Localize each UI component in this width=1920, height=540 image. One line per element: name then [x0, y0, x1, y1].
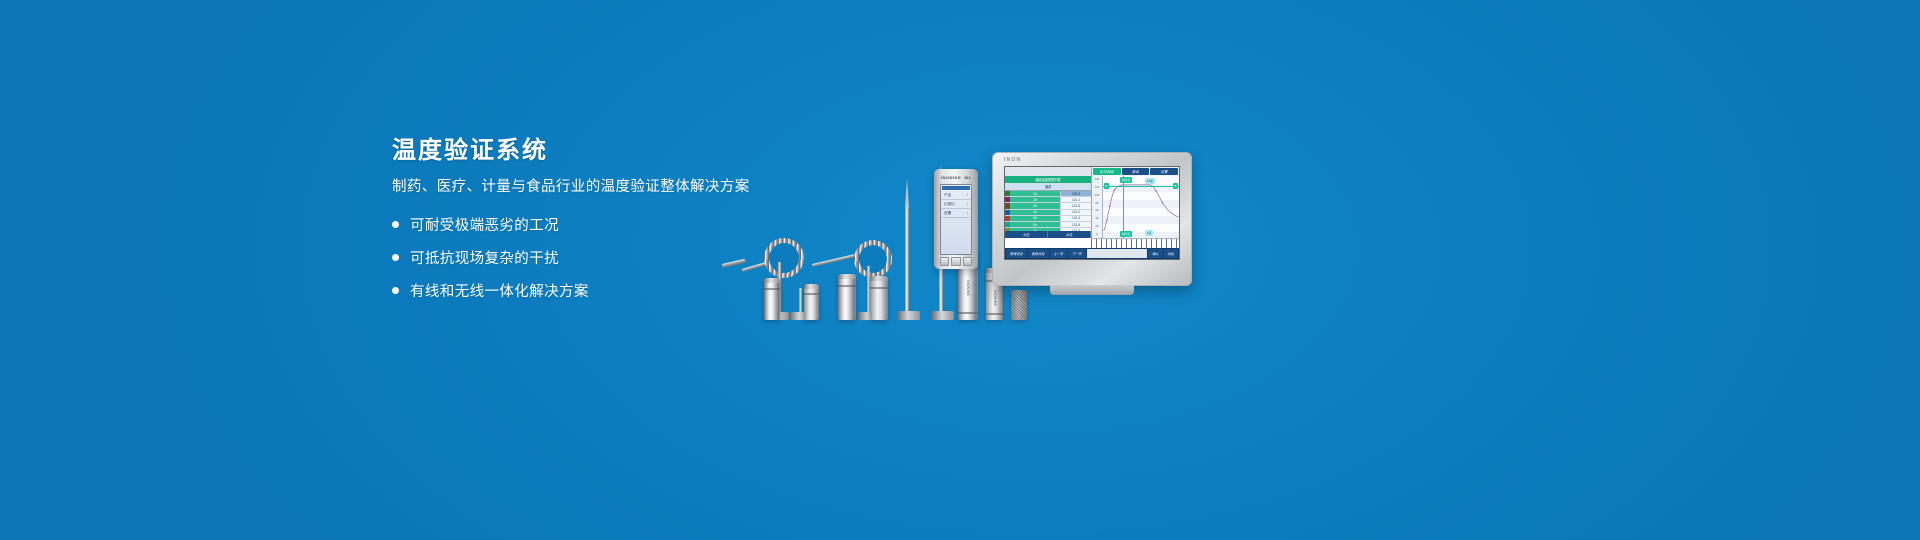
tabbar-left-pad — [1005, 167, 1092, 176]
new-task-button[interactable]: 新建任务 — [1006, 249, 1027, 258]
lcd-row: 记录仪 › — [941, 200, 971, 209]
x-axis-ticks — [1091, 238, 1179, 248]
software-body: 通道温度数据列表 通道 1# 121.3 — [1005, 176, 1179, 238]
select-all-button[interactable]: 全选 — [1005, 231, 1048, 238]
y-tick: 0 — [1096, 233, 1097, 236]
confirm-button[interactable]: 确认 — [1148, 249, 1162, 258]
software-tabbar: 实时曲线 报表 设置 — [1005, 167, 1179, 176]
logger-cap — [838, 274, 856, 279]
logger-ring — [870, 287, 888, 289]
channel-id: 1# — [1010, 191, 1060, 196]
channel-value: 121.6 — [1060, 222, 1091, 227]
channel-value: 121.4 — [1060, 216, 1091, 221]
delete-task-button[interactable]: 删除任务 — [1028, 249, 1049, 258]
lcd-row-label: 设置 — [944, 211, 951, 216]
handheld-brand: INONIKE M1 — [941, 175, 971, 180]
chevron-right-icon: › — [967, 202, 968, 207]
data-logger-small-1 — [764, 278, 780, 320]
data-logger-small-3 — [838, 274, 856, 320]
probe-coil — [764, 238, 804, 278]
exit-button[interactable]: 退出 — [1164, 249, 1178, 258]
key-confirm[interactable] — [940, 257, 949, 266]
lcd-row-label: 记录仪 — [944, 202, 955, 207]
logger-label: INONIKE — [966, 280, 970, 296]
product-banner: 温度验证系统 制药、医疗、计量与食品行业的温度验证整体解决方案 可耐受极端恶劣的… — [0, 0, 1920, 540]
chevron-right-icon: › — [967, 211, 968, 216]
feature-label: 有线和无线一体化解决方案 — [410, 280, 589, 301]
lcd-row-label: 产品 — [944, 193, 951, 198]
probe-arm — [812, 254, 857, 267]
software-toolbar[interactable]: 新建任务 删除任务 上一页 下一页 确认 退出 — [1005, 248, 1179, 259]
y-tick: 20 — [1096, 225, 1099, 228]
lcd-titlebar — [942, 186, 970, 190]
channel-value: 121.3 — [1060, 191, 1091, 196]
handheld-reader[interactable]: INONIKE M1 产品 › 记录仪 › 设置 › — [934, 169, 978, 269]
logger-label: INONIKE — [993, 290, 997, 306]
column-channel: 通道 — [1045, 185, 1051, 189]
cursor-top-label[interactable]: 时间点 — [1120, 177, 1132, 183]
lcd-row: 产品 › — [941, 191, 971, 200]
feature-label: 可抵抗现场复杂的干扰 — [410, 247, 559, 268]
bullet-dot-icon — [392, 254, 399, 261]
logger-ring — [764, 288, 780, 290]
handheld-keypad[interactable] — [940, 257, 972, 266]
logger-ring — [838, 285, 856, 287]
feature-label: 可耐受极端恶劣的工况 — [410, 214, 559, 235]
a-point-marker-label[interactable]: A点 — [1145, 230, 1154, 236]
key-back[interactable] — [951, 257, 960, 266]
logger-ring — [958, 312, 978, 314]
logger-cap — [764, 278, 780, 283]
y-axis: 140 120 100 80 60 40 20 0 — [1092, 176, 1103, 238]
toolbar-spacer — [1087, 249, 1148, 258]
channel-rows[interactable]: 1# 121.3 2# 121.1 3# 121.5 — [1005, 191, 1091, 231]
needle-base — [898, 311, 920, 320]
logger-ring — [986, 313, 1003, 315]
needle-probe-1 — [896, 182, 918, 320]
bullet-dot-icon — [392, 221, 399, 228]
next-page-button[interactable]: 下一页 — [1068, 249, 1086, 258]
probe-coil — [854, 240, 892, 278]
y-tick: 40 — [1096, 217, 1099, 220]
right-marker-badge[interactable]: B — [1173, 183, 1178, 189]
channel-value: 121.2 — [1060, 210, 1091, 215]
probe-stem — [799, 288, 802, 312]
left-marker-badge[interactable]: B — [1104, 183, 1109, 189]
bullet-dot-icon — [392, 287, 399, 294]
brand-label: INONIKE — [941, 175, 961, 180]
product-photo: INONIKE INONIKE — [700, 110, 1260, 320]
y-tick: 140 — [1095, 178, 1099, 181]
channel-value: 121.5 — [1060, 203, 1091, 208]
monitor-stand — [1050, 285, 1134, 295]
chevron-right-icon: › — [967, 193, 968, 198]
y-tick: 60 — [1096, 209, 1099, 212]
logger-ring — [804, 293, 819, 295]
channel-id: 4# — [1010, 210, 1060, 215]
threshold-line — [1103, 186, 1179, 187]
channel-id: 6# — [1010, 222, 1060, 227]
validation-software-monitor: INON 实时曲线 报表 设置 通道温度数据列表 — [992, 152, 1192, 286]
channel-table-header: 通道温度数据列表 — [1005, 176, 1091, 183]
time-cursor[interactable] — [1123, 176, 1124, 238]
logger-cap — [870, 276, 888, 281]
channel-id: 2# — [1010, 197, 1060, 202]
channel-table-columns: 通道 — [1005, 183, 1091, 191]
channel-table-footer[interactable]: 全选 反选 — [1005, 231, 1091, 238]
tab-report[interactable]: 报表 — [1122, 168, 1150, 175]
model-label: M1 — [964, 175, 971, 180]
prev-page-button[interactable]: 上一页 — [1050, 249, 1068, 258]
channel-table: 通道温度数据列表 通道 1# 121.3 — [1005, 176, 1092, 238]
channel-id: 3# — [1010, 203, 1060, 208]
cursor-bottom-label[interactable]: 时间点 — [1120, 231, 1132, 237]
data-logger-small-2 — [804, 284, 819, 320]
monitor-screen: 实时曲线 报表 设置 通道温度数据列表 通道 — [1004, 166, 1180, 260]
tab-settings[interactable]: 设置 — [1150, 168, 1178, 175]
probe-tip — [722, 259, 746, 268]
mesh-sensor — [1011, 290, 1027, 320]
tab-list[interactable]: 实时曲线 报表 设置 — [1092, 167, 1179, 176]
channel-value: 121.1 — [1060, 197, 1091, 202]
channel-id: 5# — [1010, 216, 1060, 221]
logger-cap — [804, 284, 819, 289]
invert-selection-button[interactable]: 反选 — [1048, 231, 1091, 238]
y-tick: 120 — [1095, 186, 1099, 189]
monitor-brand: INON — [1004, 157, 1021, 163]
y-tick: 100 — [1095, 194, 1099, 197]
data-logger-small-4 — [870, 276, 888, 320]
needle-shaft — [905, 208, 909, 320]
handheld-lcd: 产品 › 记录仪 › 设置 › — [940, 184, 972, 255]
needle-tip — [905, 178, 909, 208]
needle-base — [932, 311, 954, 320]
tab-realtime-curve[interactable]: 实时曲线 — [1093, 168, 1121, 175]
y-tick: 80 — [1096, 202, 1099, 205]
temperature-chart: 140 120 100 80 60 40 20 0 — [1092, 176, 1179, 238]
key-menu[interactable] — [963, 257, 972, 266]
chart-canvas: B B 时间点 时间点 F0值 A点 — [1103, 176, 1179, 238]
f0-marker-label[interactable]: F0值 — [1145, 178, 1155, 184]
lcd-row: 设置 › — [941, 209, 971, 218]
